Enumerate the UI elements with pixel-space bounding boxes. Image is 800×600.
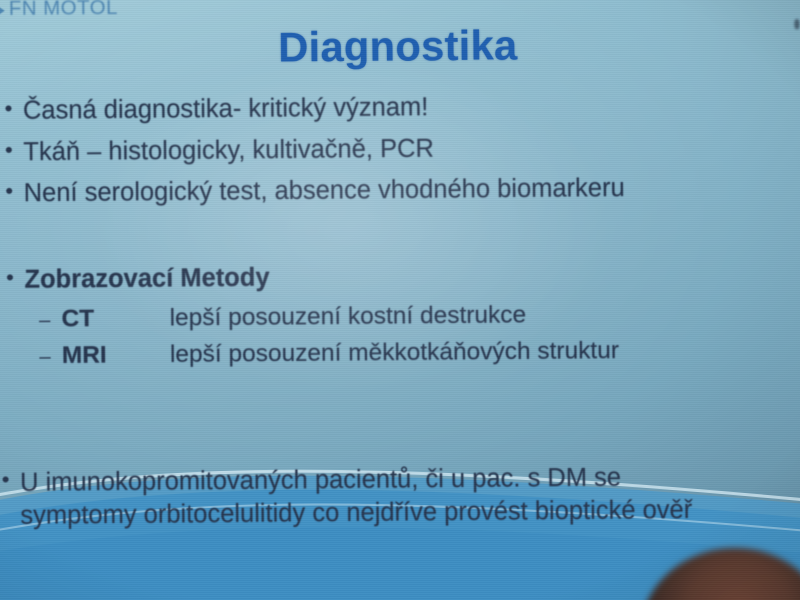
- sub-item-key: MRI: [62, 341, 170, 371]
- sub-item-key: CT: [61, 304, 169, 334]
- section-heading-row: • Zobrazovací Metody: [0, 257, 800, 296]
- bullet-text: Časná diagnostika- kritický význam!: [23, 92, 429, 128]
- closing-paragraph: • U imunokopromitovaných pacientů, či u …: [0, 459, 800, 532]
- bullet-item: • Časná diagnostika- kritický význam!: [0, 88, 800, 127]
- bullet-text: Tkáň – histologicky, kultivačně, PCR: [23, 133, 434, 169]
- section-heading-text: Zobrazovací Metody: [24, 262, 269, 296]
- bullet-marker-icon: •: [6, 266, 25, 289]
- bullet-marker-icon: •: [5, 139, 24, 162]
- fn-motol-logo: FN MOTOL: [0, 0, 118, 21]
- bullet-item: • Není serologický test, absence vhodnéh…: [0, 171, 800, 210]
- sub-item-mri: – MRI lepší posouzení měkkotkáňových str…: [0, 335, 800, 371]
- vertical-spacer: [0, 212, 800, 264]
- slide-photo: FN MOTOL Diagnostika • Časná diagnostika…: [0, 0, 800, 600]
- slide-body: • Časná diagnostika- kritický význam! • …: [0, 88, 800, 379]
- closing-line-2: symptomy orbitocelulitidy co nejdříve pr…: [20, 493, 692, 532]
- page-title: Diagnostika: [0, 19, 800, 74]
- sub-item-ct: – CT lepší posouzení kostní destrukce: [0, 298, 800, 334]
- bullet-item: • Tkáň – histologicky, kultivačně, PCR: [0, 130, 800, 169]
- bullet-text: Není serologický test, absence vhodného …: [24, 173, 625, 210]
- triangle-arrow-icon: [0, 4, 5, 16]
- dash-marker-icon: –: [39, 346, 62, 370]
- closing-lines: U imunokopromitovaných pacientů, či u pa…: [20, 461, 692, 532]
- logo-label: FN MOTOL: [9, 0, 118, 21]
- bullet-marker-icon: •: [5, 180, 24, 203]
- bullet-marker-icon: •: [4, 97, 23, 120]
- bullet-marker-icon: •: [2, 469, 21, 492]
- sub-item-value: lepší posouzení kostní destrukce: [170, 301, 527, 333]
- dash-marker-icon: –: [39, 309, 62, 333]
- sub-item-value: lepší posouzení měkkotkáňových struktur: [170, 337, 619, 369]
- presentation-slide: FN MOTOL Diagnostika • Časná diagnostika…: [0, 0, 800, 600]
